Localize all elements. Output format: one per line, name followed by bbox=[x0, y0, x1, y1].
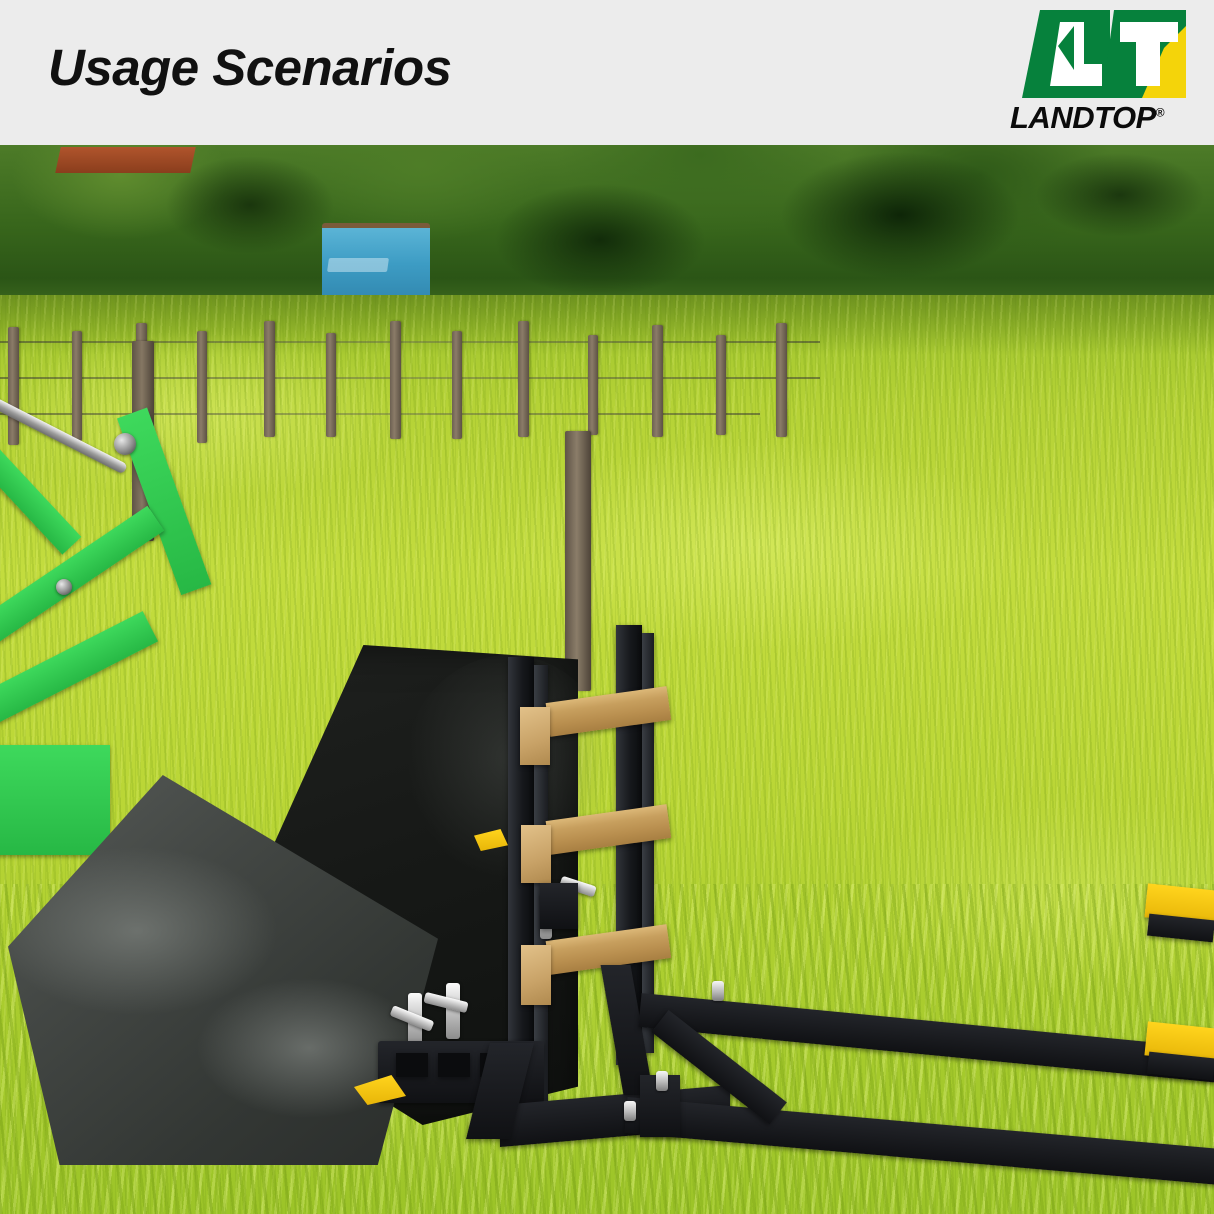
scenario-card-list: Factory bbox=[814, 0, 1214, 1214]
brand-name: LANDTOP® bbox=[1010, 100, 1200, 136]
brand-wordmark: LANDTOP bbox=[1010, 100, 1156, 135]
wood-beam-end bbox=[520, 707, 550, 765]
clamp-slot bbox=[438, 1053, 470, 1077]
pin-bracket bbox=[540, 883, 578, 929]
wood-beam-end bbox=[521, 945, 551, 1005]
wood-beam-end bbox=[521, 825, 551, 883]
loader-arm bbox=[0, 449, 81, 554]
clamp-slot bbox=[396, 1053, 428, 1077]
mounting-bolt bbox=[624, 1101, 636, 1121]
landtop-monogram-icon bbox=[1014, 8, 1190, 100]
mounting-bolt bbox=[712, 981, 724, 1001]
registered-mark: ® bbox=[1156, 106, 1164, 120]
arm-pivot-pin bbox=[114, 433, 136, 455]
page-header: Usage Scenarios LANDTOP® bbox=[0, 0, 1214, 145]
loader-arm bbox=[0, 611, 158, 723]
page-title: Usage Scenarios bbox=[48, 38, 452, 97]
usage-scenarios-infographic: Usage Scenarios LANDTOP® bbox=[0, 0, 1214, 1214]
loader-mount-plate bbox=[0, 745, 110, 855]
arm-pivot-pin bbox=[56, 579, 72, 595]
brand-logo: LANDTOP® bbox=[996, 0, 1206, 145]
mounting-bolt bbox=[656, 1071, 668, 1091]
hydraulic-cylinder-rod bbox=[0, 396, 128, 475]
